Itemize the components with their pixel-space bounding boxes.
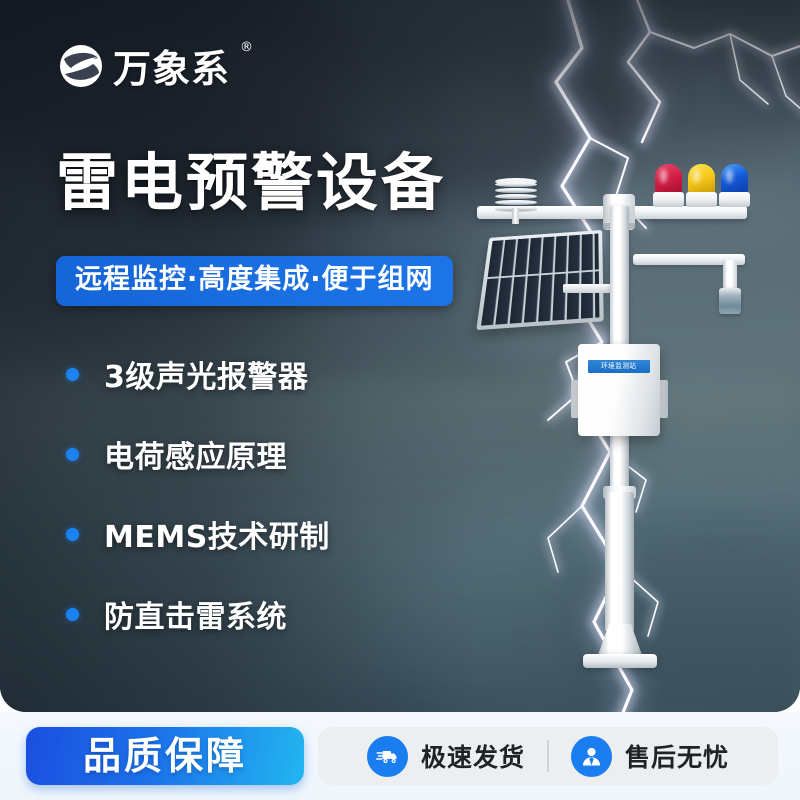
feature-list: 3级声光报警器 电荷感应原理 MEMS技术研制 防直击雷系统 — [66, 345, 330, 665]
subtitle-badge: 远程监控·高度集成·便于组网 — [56, 256, 453, 306]
side-arm-sensor — [719, 288, 741, 314]
blue-alarm-beacon — [721, 164, 748, 207]
feature-label: 电荷感应原理 — [104, 432, 287, 476]
list-item: MEMS技术研制 — [66, 505, 330, 563]
radiation-shield-stem — [512, 208, 519, 224]
service-badges: 极速发货 售后无忧 — [318, 727, 778, 785]
hero-banner: 环境监测站 万象系 ® 雷电预警设备 远程监控·高度集成 — [0, 0, 800, 712]
trademark-symbol: ® — [240, 40, 253, 55]
trust-badge-bar: 品质保障 极速发货 — [0, 712, 800, 800]
feature-label: 防直击雷系统 — [104, 592, 287, 636]
service-fast-shipping: 极速发货 — [367, 736, 525, 777]
quality-guarantee-badge: 品质保障 — [26, 727, 304, 785]
yellow-alarm-beacon — [688, 164, 715, 207]
feature-label: 3级声光报警器 — [104, 352, 308, 396]
solar-panel-strut — [563, 284, 615, 293]
page-title: 雷电预警设备 — [56, 152, 446, 214]
bullet-dot-icon — [66, 608, 79, 621]
solar-panel — [480, 224, 607, 330]
product-illustration: 环境监测站 — [455, 88, 800, 688]
brand-logo: 万象系 ® — [58, 38, 253, 93]
subtitle-text: 远程监控·高度集成·便于组网 — [75, 264, 434, 295]
delivery-truck-icon — [367, 736, 408, 777]
control-box — [578, 344, 660, 436]
swirl-globe-logo-icon — [58, 43, 104, 89]
quality-guarantee-label: 品质保障 — [83, 737, 247, 775]
support-agent-icon — [571, 736, 612, 777]
mast-lower-section — [605, 492, 634, 632]
list-item: 防直击雷系统 — [66, 585, 330, 643]
control-box-label: 环境监测站 — [588, 360, 650, 373]
control-box-label-text: 环境监测站 — [601, 363, 637, 370]
mast-base-plate — [583, 654, 657, 668]
service-after-sales: 售后无忧 — [571, 736, 729, 777]
red-alarm-beacon — [655, 164, 682, 207]
list-item: 电荷感应原理 — [66, 425, 330, 483]
service-divider — [547, 740, 549, 772]
list-item: 3级声光报警器 — [66, 345, 330, 403]
bullet-dot-icon — [66, 368, 79, 381]
mast-base-flare — [597, 624, 643, 658]
promo-page: 环境监测站 万象系 ® 雷电预警设备 远程监控·高度集成 — [0, 0, 800, 800]
service-label: 售后无忧 — [625, 738, 729, 774]
brand-name: 万象系 — [113, 38, 230, 93]
bullet-dot-icon — [66, 448, 79, 461]
service-label: 极速发货 — [421, 738, 525, 774]
feature-label: MEMS技术研制 — [104, 512, 330, 556]
bullet-dot-icon — [66, 528, 79, 541]
